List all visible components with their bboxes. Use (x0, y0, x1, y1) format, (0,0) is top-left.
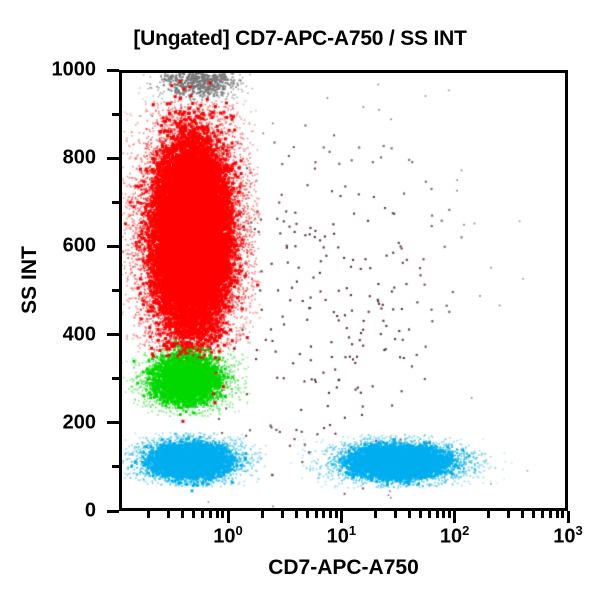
scatter-canvas (122, 73, 565, 508)
flow-cytometry-plot: [Ungated] CD7-APC-A750 / SS INT 10008006… (0, 0, 600, 600)
x-tick-minor (487, 511, 490, 518)
plot-frame (119, 70, 568, 511)
x-tick-major (453, 511, 456, 523)
x-tick-minor (201, 511, 204, 518)
x-tick-minor (521, 511, 524, 518)
x-tick-label: 102 (415, 523, 495, 549)
x-tick-minor (442, 511, 445, 518)
x-tick-minor (419, 511, 422, 518)
x-tick-minor (507, 511, 510, 518)
x-tick-minor (374, 511, 377, 518)
x-tick-minor (549, 511, 552, 518)
x-tick-minor (192, 511, 195, 518)
x-tick-minor (209, 511, 212, 518)
y-tick-major (107, 69, 119, 72)
x-tick-minor (322, 511, 325, 518)
x-tick-minor (541, 511, 544, 518)
y-axis-title: SS INT (18, 220, 42, 340)
y-tick-minor (112, 289, 119, 292)
x-tick-label: 100 (188, 523, 268, 549)
x-tick-minor (315, 511, 318, 518)
y-tick-minor (112, 465, 119, 468)
x-tick-minor (281, 511, 284, 518)
x-tick-minor (221, 511, 224, 518)
x-tick-minor (306, 511, 309, 518)
x-tick-minor (335, 511, 338, 518)
x-tick-minor (167, 511, 170, 518)
x-tick-minor (428, 511, 431, 518)
x-tick-label: 103 (528, 523, 600, 549)
y-tick-major (107, 510, 119, 513)
x-tick-minor (448, 511, 451, 518)
x-tick-minor (261, 511, 264, 518)
x-tick-minor (561, 511, 564, 518)
x-tick-minor (216, 511, 219, 518)
y-tick-major (107, 333, 119, 336)
x-tick-minor (532, 511, 535, 518)
y-tick-major (107, 157, 119, 160)
y-tick-label: 200 (18, 411, 96, 434)
x-tick-minor (181, 511, 184, 518)
y-tick-minor (112, 201, 119, 204)
x-tick-minor (329, 511, 332, 518)
y-tick-minor (112, 113, 119, 116)
x-tick-minor (147, 511, 150, 518)
x-tick-minor (394, 511, 397, 518)
y-tick-label: 0 (18, 500, 96, 523)
x-tick-minor (408, 511, 411, 518)
x-tick-minor (436, 511, 439, 518)
y-tick-label: 1000 (18, 59, 96, 82)
y-tick-label: 800 (18, 147, 96, 170)
y-tick-minor (112, 377, 119, 380)
y-tick-major (107, 245, 119, 248)
x-tick-label: 101 (301, 523, 381, 549)
x-axis-title: CD7-APC-A750 (119, 556, 568, 580)
x-tick-major (227, 511, 230, 523)
x-tick-minor (295, 511, 298, 518)
x-tick-major (567, 511, 570, 523)
y-tick-major (107, 421, 119, 424)
x-tick-major (340, 511, 343, 523)
x-tick-minor (556, 511, 559, 518)
page-title: [Ungated] CD7-APC-A750 / SS INT (0, 27, 600, 51)
